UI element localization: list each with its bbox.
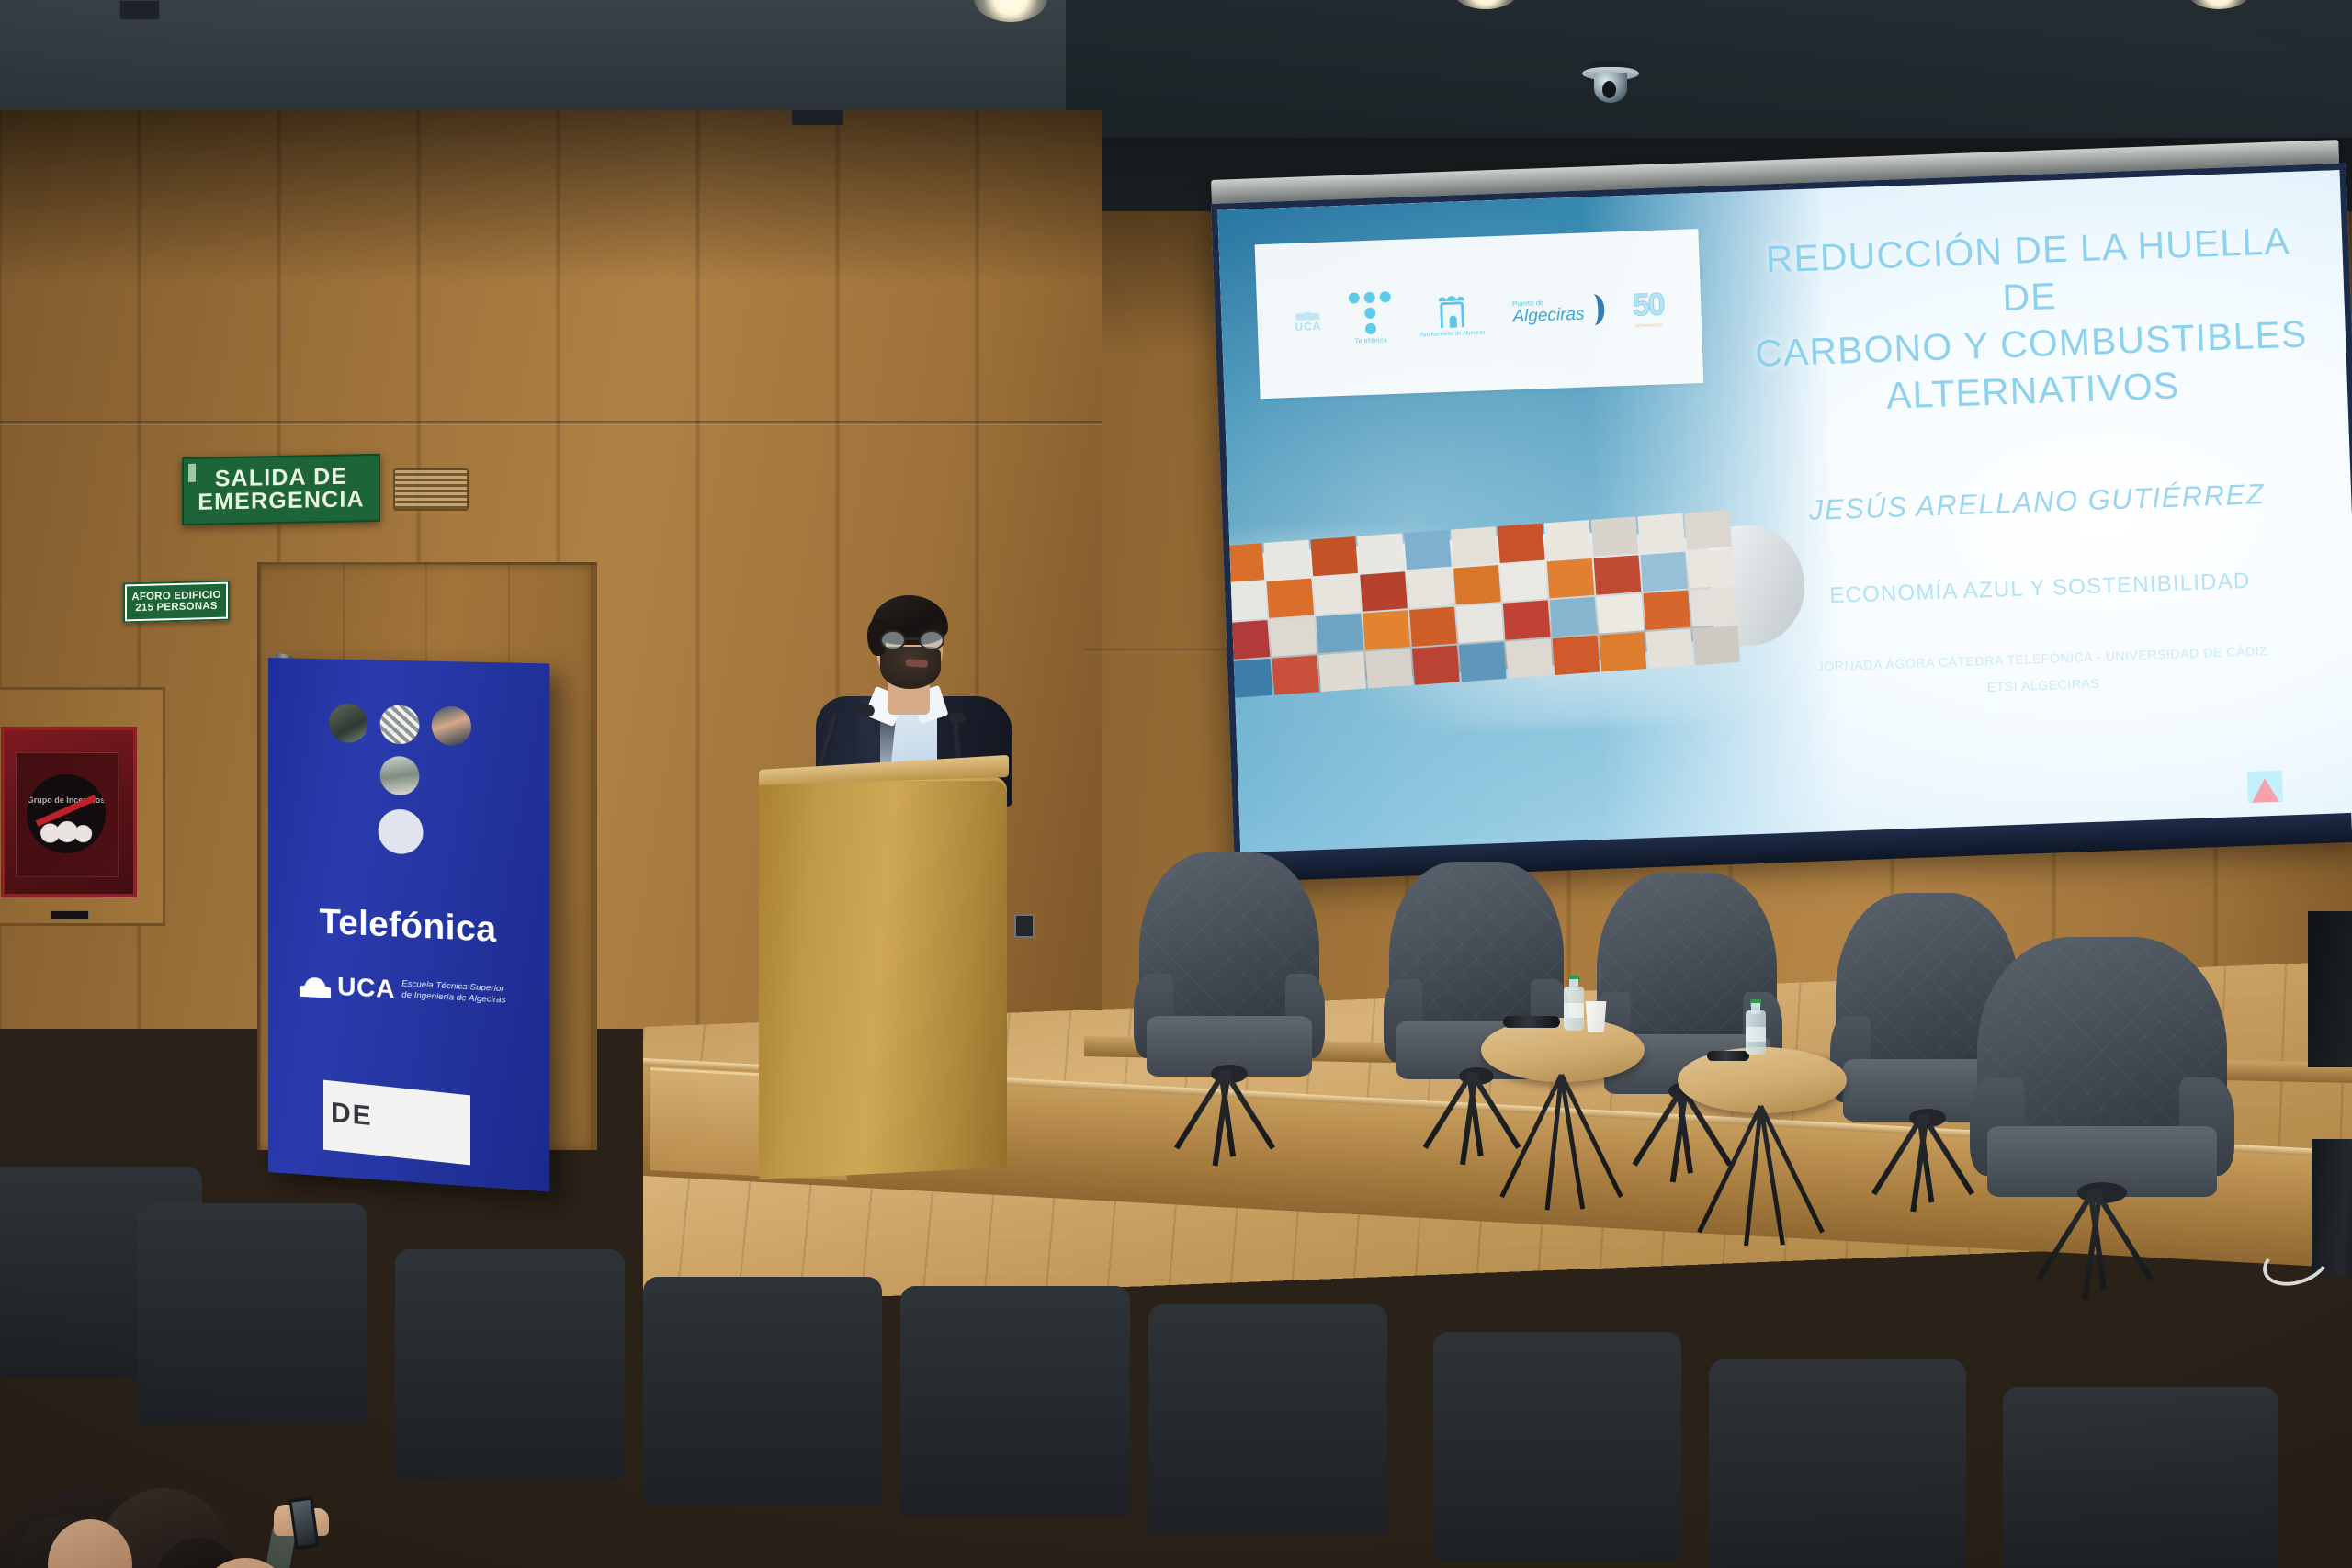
phone-screen [292, 1500, 316, 1546]
emergency-exit-sign: SALIDA DE EMERGENCIA [182, 454, 380, 525]
fire-hose-label-icon: Grupo de Incendios [27, 774, 106, 853]
lectern-microphone-head[interactable] [949, 713, 966, 723]
banner-plain-circle [379, 808, 424, 854]
uca-mark [1295, 307, 1319, 320]
audience-seat[interactable] [138, 1203, 367, 1424]
wall-sensor [792, 110, 843, 125]
telefonica-logo-label: Telefónica [1355, 337, 1388, 344]
telefonica-dots-mark [1349, 291, 1393, 335]
anniversary-number: 50 [1632, 287, 1664, 323]
presentation-slide: UCA Telefónica Ayuntamiento de Algeciras [1217, 170, 2352, 869]
banner-photo-circle [329, 704, 367, 743]
audience-seat[interactable] [395, 1249, 625, 1479]
floor-power-socket [1014, 914, 1035, 938]
capacity-sign: AFORO EDIFICIO 215 PERSONAS [123, 581, 230, 624]
telefonica-logo-icon: Telefónica [1349, 291, 1393, 345]
eyeglasses-icon [878, 630, 948, 650]
camera-lens [1602, 81, 1616, 98]
speaker-beard [880, 647, 941, 689]
exit-sign-pictogram-icon [188, 464, 196, 482]
banner-brand-name: Telefónica [268, 900, 549, 953]
audience-seat[interactable] [1709, 1359, 1966, 1568]
dome-security-camera-icon [1582, 61, 1639, 103]
puerto-label-main: Algeciras [1512, 305, 1585, 325]
audience-seat[interactable] [1433, 1332, 1681, 1562]
slide-sponsor-logo-bar: UCA Telefónica Ayuntamiento de Algeciras [1255, 229, 1703, 400]
triangle-mark [2252, 778, 2280, 803]
back-wall-shadow [0, 110, 1102, 285]
shipping-containers [1217, 510, 1739, 697]
slide-event-info: JORNADA ÁGORA CÁTEDRA TELEFÓNICA - UNIVE… [1750, 635, 2335, 709]
capacity-sign-line-2: 215 PERSONAS [135, 601, 217, 614]
slide-corner-triangle-logo-icon [2247, 771, 2283, 803]
ayuntamiento-logo-label: Ayuntamiento de Algeciras [1420, 330, 1486, 338]
projection-screen: UCA Telefónica Ayuntamiento de Algeciras [1211, 164, 2352, 876]
slide-title: REDUCCIÓN DE LA HUELLA DE CARBONO Y COMB… [1736, 217, 2325, 424]
puerto-de-algeciras-logo-icon: Puerto de Algeciras [1512, 294, 1605, 329]
audience-seat[interactable] [643, 1277, 882, 1506]
slide-text-column: REDUCCIÓN DE LA HUELLA DE CARBONO Y COMB… [1736, 217, 2339, 805]
crest-mark [1436, 292, 1468, 330]
ayuntamiento-crest-icon: Ayuntamiento de Algeciras [1419, 291, 1486, 338]
puerto-swoosh-mark [1586, 294, 1605, 326]
fire-cabinet-frame: Grupo de Incendios [1, 727, 137, 897]
anniversary-caption: aniversario [1635, 322, 1663, 329]
banner-photo-circle [432, 705, 471, 746]
wall-vent-grille [393, 468, 469, 511]
audience-seat[interactable] [900, 1286, 1130, 1516]
uca-logo-label: UCA [1295, 319, 1321, 333]
ceiling-vent [119, 0, 160, 20]
exit-sign-line-2: EMERGENCIA [198, 488, 364, 514]
banner-photo-circle [380, 705, 420, 745]
fire-hose-cabinet[interactable]: Grupo de Incendios [0, 687, 165, 926]
speaker-mouth [906, 659, 928, 668]
slide-topic: ECONOMÍA AZUL Y SOSTENIBILIDAD [1747, 565, 2332, 612]
auditorium-photo: SALIDA DE EMERGENCIA AFORO EDIFICIO 215 … [0, 0, 2352, 1568]
ceiling-rear-section [0, 0, 1066, 110]
audience-seat[interactable] [2003, 1387, 2278, 1568]
wall-panel-seam [0, 421, 1102, 425]
audience-seat[interactable] [1148, 1304, 1387, 1534]
anniversary-logo-icon: 50 aniversario [1632, 287, 1664, 329]
telefonica-t-photo-circles [329, 704, 489, 896]
banner-photo-circle [380, 756, 420, 796]
slide-author-name: JESÚS ARELLANO GUTIÉRREZ [1745, 475, 2329, 529]
fire-cabinet-latch[interactable] [51, 910, 89, 920]
uca-logo-icon: UCA [1295, 307, 1322, 333]
audience-section [0, 974, 2352, 1568]
